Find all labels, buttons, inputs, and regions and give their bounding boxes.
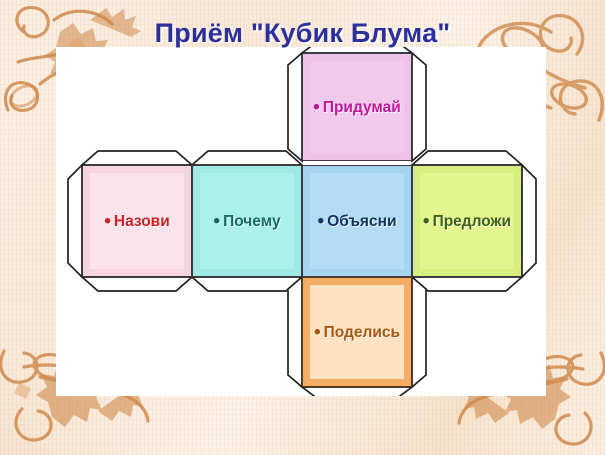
cube-face-pridumay[interactable]: •Придумай bbox=[302, 53, 412, 161]
bullet-icon: • bbox=[423, 211, 430, 232]
cube-face-predlozhi[interactable]: •Предложи bbox=[412, 165, 522, 277]
cube-face-obyasni-label: •Объясни bbox=[318, 211, 397, 231]
cube-face-podelis[interactable]: •Поделись bbox=[302, 277, 412, 387]
cube-face-obyasni[interactable]: •Объясни bbox=[302, 165, 412, 277]
cube-face-podelis-label: •Поделись bbox=[314, 322, 400, 342]
cube-face-nazovi-label: •Назови bbox=[104, 211, 170, 231]
cube-face-predlozhi-label: •Предложи bbox=[423, 211, 511, 231]
bullet-icon: • bbox=[104, 211, 111, 232]
cube-face-pochemu[interactable]: •Почему bbox=[192, 165, 302, 277]
page-title: Приём "Кубик Блума" bbox=[0, 18, 605, 49]
bullet-icon: • bbox=[314, 322, 321, 343]
cube-face-nazovi[interactable]: •Назови bbox=[82, 165, 192, 277]
slide-canvas: Приём "Кубик Блума" bbox=[0, 0, 605, 455]
cube-face-pridumay-label: •Придумай bbox=[313, 97, 401, 117]
bullet-icon: • bbox=[213, 211, 220, 232]
cube-net-diagram: •Придумай •Назови •Почему •Объясни bbox=[56, 47, 546, 396]
bullet-icon: • bbox=[313, 97, 320, 118]
cube-face-pochemu-label: •Почему bbox=[213, 211, 280, 231]
bullet-icon: • bbox=[318, 211, 325, 232]
